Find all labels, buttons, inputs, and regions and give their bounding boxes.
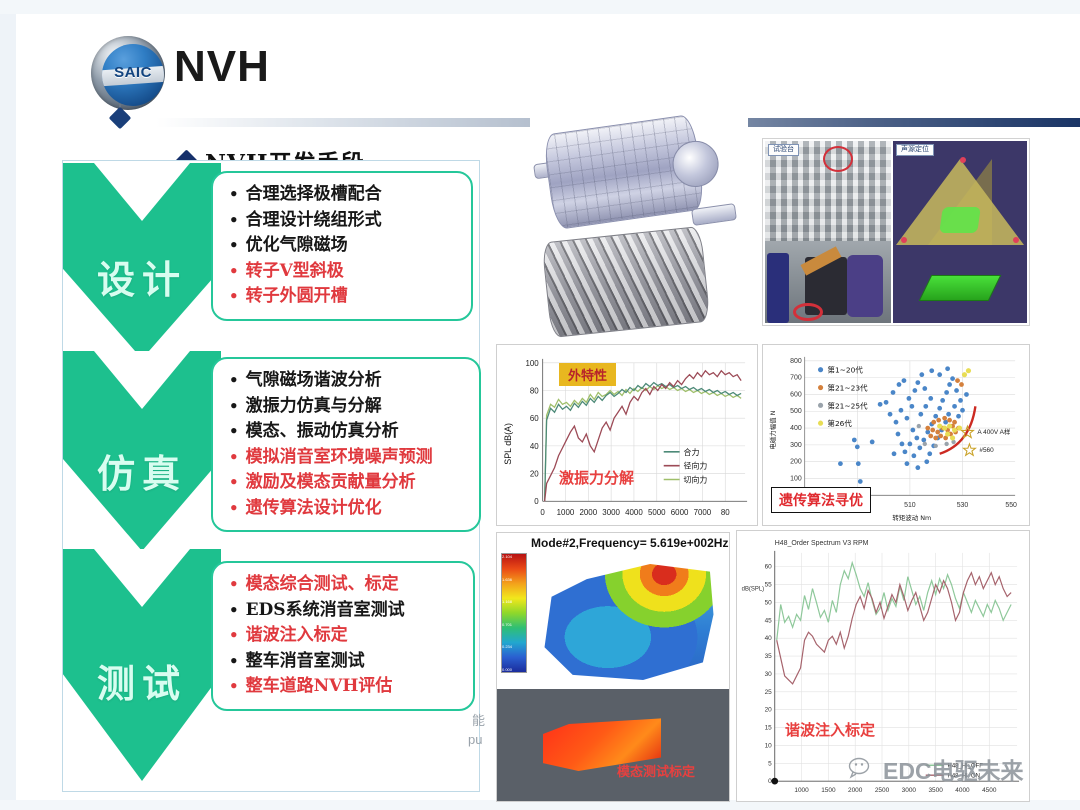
fea-scale-value: 2.104 [502, 554, 526, 559]
pyramid-marker-right [1013, 237, 1019, 243]
saic-logo-diamond [109, 107, 132, 130]
list-item: 合理选择极槽配合 [229, 182, 457, 208]
list-item: 整车消音室测试 [229, 649, 459, 675]
svg-text:55: 55 [765, 582, 773, 589]
list-item: 整车道路NVH评估 [229, 674, 459, 700]
fea-lower-viewport [497, 689, 729, 802]
pyramid-ground-plate [919, 275, 1002, 301]
chevron-notch [94, 163, 190, 221]
list-item: 激励及模态贡献量分析 [229, 470, 465, 496]
svg-text:4000: 4000 [625, 508, 643, 517]
wechat-icon [848, 757, 878, 781]
svg-text:第21~25代: 第21~25代 [828, 400, 869, 410]
svg-text:5: 5 [768, 760, 772, 767]
fea-scale-value: 0.234 [502, 644, 526, 649]
svg-text:550: 550 [1005, 502, 1017, 509]
bullet-list-simulation: 气隙磁场谐波分析 激振力仿真与分解 模态、振动仿真分析 模拟消音室环境噪声预测 … [229, 368, 465, 521]
rotor-model-laminated [542, 114, 706, 230]
figure-modal-fea: Mode#2,Frequency= 5.619e+002Hz 2.104 1.6… [496, 532, 730, 802]
list-item: 模态、振动仿真分析 [229, 419, 465, 445]
chevron-label-simulation: 仿真 [63, 443, 221, 498]
svg-text:100: 100 [790, 476, 802, 483]
fea-scale-value: 0.000 [502, 667, 526, 672]
svg-text:10: 10 [765, 742, 773, 749]
list-item: 激振力仿真与分解 [229, 394, 465, 420]
list-item: 转子V型斜极 [229, 259, 457, 285]
svg-text:第1~20代: 第1~20代 [828, 365, 864, 375]
pyramid-source-hotspot [939, 207, 981, 233]
chevron-notch [94, 549, 190, 607]
svg-text:2000: 2000 [848, 787, 863, 794]
svg-text:第26代: 第26代 [828, 418, 853, 428]
saic-logo: SAIC [86, 34, 170, 126]
ga-y-axis-label: 电磁力幅值 N [768, 410, 777, 449]
bullet-box-simulation: 气隙磁场谐波分析 激振力仿真与分解 模态、振动仿真分析 模拟消音室环境噪声预测 … [211, 357, 481, 532]
rig-dyno [847, 255, 883, 317]
svg-text:400: 400 [790, 425, 802, 432]
spl-badge-external-characteristic: 外特性 [559, 363, 616, 386]
chevron-label-test: 测试 [63, 653, 221, 708]
list-item: 遗传算法设计优化 [229, 496, 465, 522]
spl-y-axis-label: SPL dB(A) [503, 423, 513, 465]
photo-anechoic-test-rig: 试验台 [765, 141, 891, 323]
process-stage-simulation[interactable]: 仿真 气隙磁场谐波分析 激振力仿真与分解 模态、振动仿真分析 模拟消音室环境噪声… [63, 351, 481, 563]
fea-scale-value: 1.168 [502, 599, 526, 604]
svg-text:35: 35 [765, 653, 773, 660]
ghost-text-line1: 能 [472, 710, 485, 729]
svg-text:500: 500 [790, 408, 802, 415]
page-edge-left [0, 0, 16, 810]
list-item: 模态综合测试、标定 [229, 572, 459, 598]
watermark-text: EDC电驱未来 [883, 752, 1024, 786]
svg-text:第21~23代: 第21~23代 [828, 383, 869, 393]
fea-mesh-model [541, 559, 717, 685]
list-item: 模拟消音室环境噪声预测 [229, 445, 465, 471]
photo-left-tag: 试验台 [768, 144, 799, 156]
svg-text:700: 700 [790, 375, 802, 382]
process-panel: 设计 合理选择极槽配合 合理设计绕组形式 优化气隙磁场 转子V型斜极 转子外圆开… [62, 160, 480, 792]
svg-text:800: 800 [790, 358, 802, 365]
svg-text:4000: 4000 [955, 787, 970, 794]
fea-scale-value: 0.701 [502, 622, 526, 627]
svg-text:0: 0 [534, 497, 539, 506]
saic-logo-ball: SAIC [91, 36, 165, 110]
ga-y-tick-labels: 800 700 600 500 400 300 200 100 0 [790, 358, 802, 499]
svg-text:20: 20 [530, 470, 539, 479]
bullet-box-design: 合理选择极槽配合 合理设计绕组形式 优化气隙磁场 转子V型斜极 转子外圆开槽 [211, 171, 473, 321]
svg-text:1000: 1000 [557, 508, 575, 517]
svg-text:1000: 1000 [794, 787, 809, 794]
list-item: 优化气隙磁场 [229, 233, 457, 259]
order-y-axis-label: dB(SPL) [742, 587, 764, 593]
svg-text:3500: 3500 [928, 787, 943, 794]
svg-text:25: 25 [765, 689, 773, 696]
saic-logo-text: SAIC [102, 64, 164, 81]
ghost-text-line2: pu [468, 732, 482, 747]
spl-annotation-force-decomposition: 激振力分解 [559, 467, 634, 488]
slide-canvas: SAIC NVH NVH开发手段 设计 合理选择极槽配合 合理设计绕 [0, 0, 1080, 810]
svg-text:切向力: 切向力 [684, 474, 708, 484]
photo-right-tag: 声源定位 [896, 144, 934, 156]
chevron-notch [94, 351, 190, 409]
spl-x-tick-labels: 0 1000 2000 3000 4000 5000 6000 7000 80 [540, 508, 730, 517]
svg-text:80: 80 [721, 508, 730, 517]
svg-text:200: 200 [790, 459, 802, 466]
order-chart-title: H48_Order Spectrum V3 RPM [775, 540, 869, 547]
ga-annotation-genetic-optimization: 遗传算法寻优 [771, 487, 871, 513]
process-stage-design[interactable]: 设计 合理选择极槽配合 合理设计绕组形式 优化气隙磁场 转子V型斜极 转子外圆开… [63, 163, 481, 369]
figures-panel: 试验台 声源定位 [490, 110, 1036, 800]
list-item: 气隙磁场谐波分析 [229, 368, 465, 394]
svg-text:合力: 合力 [684, 447, 700, 457]
figure-rotor-cad [530, 110, 748, 340]
svg-text:40: 40 [530, 442, 539, 451]
rig-highlight-circle [793, 303, 823, 321]
page-edge-top [0, 0, 1080, 14]
svg-text:2000: 2000 [579, 508, 597, 517]
list-item: 合理设计绕组形式 [229, 208, 457, 234]
bullet-list-test: 模态综合测试、标定 EDS系统消音室测试 谐波注入标定 整车消音室测试 整车道路… [229, 572, 459, 700]
svg-text:0: 0 [540, 508, 545, 517]
figure-spl-excitation-chart: 100 80 60 40 20 0 0 1000 2000 3000 4000 … [496, 344, 758, 526]
svg-text:7000: 7000 [694, 508, 712, 517]
bullet-list-design: 合理选择极槽配合 合理设计绕组形式 优化气隙磁场 转子V型斜极 转子外圆开槽 [229, 182, 457, 310]
process-stage-test[interactable]: 测试 模态综合测试、标定 EDS系统消音室测试 谐波注入标定 整车消音室测试 整… [63, 549, 481, 789]
svg-text:15: 15 [765, 725, 773, 732]
svg-text:5000: 5000 [648, 508, 666, 517]
svg-text:60: 60 [765, 564, 773, 571]
pyramid-marker-left [901, 237, 907, 243]
chevron-label-design: 设计 [63, 249, 221, 304]
ga-star-label-2: #560 [979, 447, 994, 454]
list-item: 谐波注入标定 [229, 623, 459, 649]
spl-chart-svg: 100 80 60 40 20 0 0 1000 2000 3000 4000 … [497, 345, 757, 525]
photo-sound-source-localization: 声源定位 [893, 141, 1027, 323]
list-item: 转子外圆开槽 [229, 284, 457, 310]
chevron-test: 测试 [63, 549, 221, 781]
svg-text:径向力: 径向力 [684, 461, 708, 471]
svg-text:3000: 3000 [602, 508, 620, 517]
page-title: NVH [174, 42, 270, 92]
fea-colorbar-labels: 2.104 1.636 1.168 0.701 0.234 0.000 [501, 553, 527, 673]
rotor-model-skewed [541, 226, 710, 338]
order-annotation-harmonic-injection: 谐波注入标定 [785, 719, 875, 740]
rig-fixture-blue [767, 253, 789, 323]
svg-text:45: 45 [765, 617, 773, 624]
svg-text:0: 0 [768, 778, 772, 785]
svg-text:530: 530 [957, 502, 969, 509]
svg-text:600: 600 [790, 391, 802, 398]
svg-text:510: 510 [904, 502, 916, 509]
pyramid-marker-apex [960, 157, 966, 163]
bullet-box-test: 模态综合测试、标定 EDS系统消音室测试 谐波注入标定 整车消音室测试 整车道路… [211, 561, 475, 711]
ga-x-axis-label: 转矩波动 Nm [892, 513, 931, 522]
order-origin-marker [771, 778, 778, 785]
figure-ga-scatter-chart: 800 700 600 500 400 300 200 100 0 490 51… [762, 344, 1030, 526]
chevron-simulation: 仿真 [63, 351, 221, 551]
fea-title: Mode#2,Frequency= 5.619e+002Hz [497, 533, 729, 553]
svg-text:80: 80 [530, 386, 539, 395]
figure-test-photos: 试验台 声源定位 [762, 138, 1030, 326]
svg-text:6000: 6000 [671, 508, 689, 517]
svg-text:60: 60 [530, 414, 539, 423]
svg-text:3000: 3000 [902, 787, 917, 794]
svg-text:30: 30 [765, 671, 773, 678]
modal-test-calibration-tag: 模态测试标定 [617, 761, 695, 780]
svg-text:20: 20 [765, 707, 773, 714]
watermark: EDC电驱未来 [848, 752, 1024, 786]
svg-text:50: 50 [765, 599, 773, 606]
chevron-design: 设计 [63, 163, 221, 359]
svg-text:2500: 2500 [875, 787, 890, 794]
svg-text:100: 100 [525, 359, 539, 368]
list-item: EDS系统消音室测试 [229, 598, 459, 624]
photo-annotation-circle [823, 146, 853, 172]
svg-text:300: 300 [790, 442, 802, 449]
svg-text:1500: 1500 [821, 787, 836, 794]
ga-star-label-1: A 400V A样 [977, 427, 1011, 436]
svg-text:4500: 4500 [982, 787, 997, 794]
fea-scale-value: 1.636 [502, 577, 526, 582]
svg-text:40: 40 [765, 635, 773, 642]
